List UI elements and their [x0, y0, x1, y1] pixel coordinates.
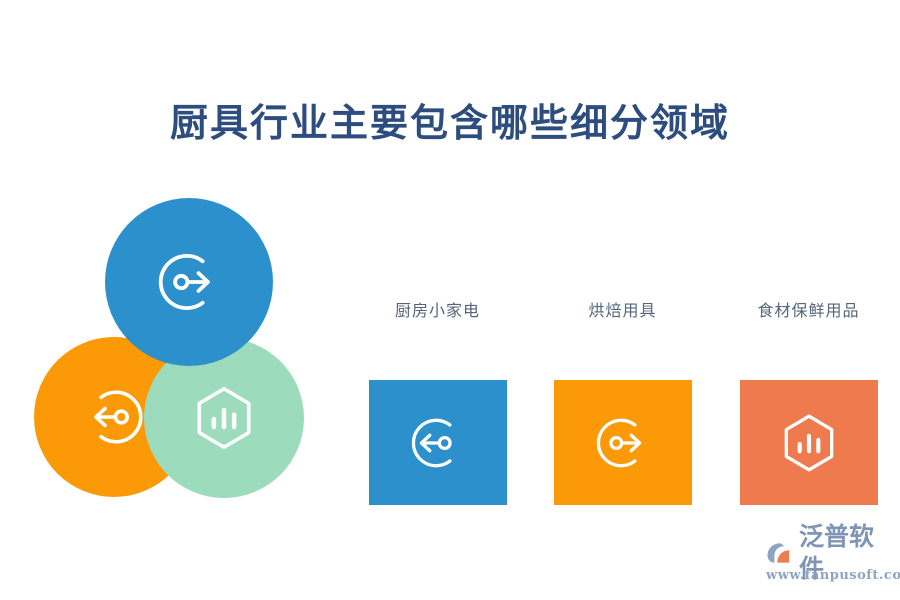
brand-logo[interactable]: 泛普软件 www.fanpusoft.com [766, 537, 896, 585]
hexagon-bar-chart-icon [188, 382, 260, 454]
category-column-kitchen-appliances[interactable]: 厨房小家电 [345, 300, 530, 505]
category-column-food-preservation[interactable]: 食材保鲜用品 [716, 300, 900, 505]
blue-circle [105, 198, 273, 366]
arrow-left-circle-icon [405, 410, 471, 476]
category-label: 烘焙用具 [588, 300, 656, 322]
brand-url: www.fanpusoft.com [766, 568, 896, 583]
category-label: 食材保鲜用品 [757, 300, 859, 322]
category-tile[interactable] [554, 380, 692, 505]
arrow-left-circle-icon [78, 381, 150, 453]
category-tile[interactable] [369, 380, 507, 505]
hexagon-bar-chart-icon [776, 410, 842, 476]
arrow-right-circle-icon [151, 244, 227, 320]
arrow-right-circle-icon [590, 410, 656, 476]
category-label: 厨房小家电 [395, 300, 480, 322]
fanpu-logo-mark-icon [766, 539, 796, 567]
category-column-baking-tools[interactable]: 烘焙用具 [530, 300, 715, 505]
category-tile[interactable] [740, 380, 878, 505]
page-title: 厨具行业主要包含哪些细分领域 [0, 92, 900, 147]
circle-cluster [34, 198, 334, 478]
